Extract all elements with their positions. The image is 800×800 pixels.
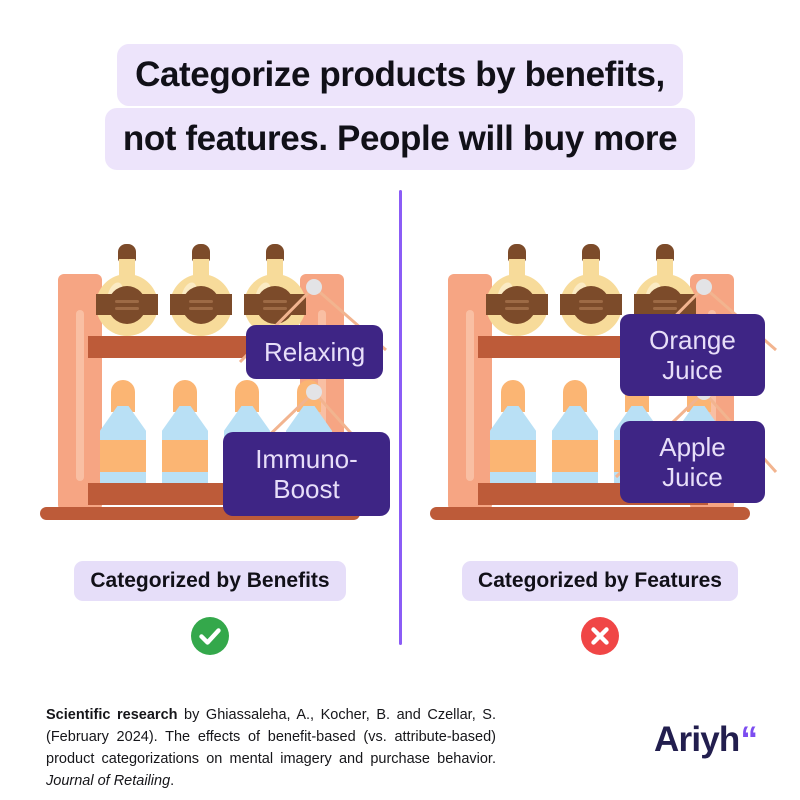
bottle-label-band xyxy=(170,294,232,315)
bottle-bottom-shelf xyxy=(162,380,208,483)
callout-label-apple-juice[interactable]: Apple Juice xyxy=(620,421,765,503)
bottle-label-band xyxy=(634,294,696,315)
callout-anchor-dot xyxy=(306,384,322,400)
bottle-label-stripe xyxy=(189,307,213,310)
bottle-label-stripe xyxy=(579,307,603,310)
shelf-post-highlight xyxy=(466,310,474,481)
citation-journal: Journal of Retailing xyxy=(46,773,170,789)
bottle-body xyxy=(490,440,536,474)
bottle-top-shelf xyxy=(96,244,158,336)
shelf-scene-benefits: Relaxing Immuno-Boost xyxy=(30,232,390,522)
bottle-label-stripe xyxy=(115,307,139,310)
check-circle-icon xyxy=(191,617,229,655)
bottle-foot-band xyxy=(162,472,208,483)
title-line-1-row: Categorize products by benefits, xyxy=(0,44,800,106)
bottle-body xyxy=(162,440,208,474)
ariyh-logo[interactable]: Ariyh “ xyxy=(654,722,758,758)
bottle-foot-band xyxy=(552,472,598,483)
bottle-label-stripe xyxy=(263,307,287,310)
title-line-2-row: not features. People will buy more xyxy=(0,108,800,170)
caption-pill-features: Categorized by Features xyxy=(462,561,738,601)
bottle-label-stripe xyxy=(189,300,213,303)
bottle-foot-band xyxy=(490,472,536,483)
bottle-label-stripe xyxy=(653,307,677,310)
bottle-top-shelf xyxy=(560,244,622,336)
bottle-label-stripe xyxy=(579,300,603,303)
bottle-top-shelf xyxy=(486,244,548,336)
citation-lead: Scientific research xyxy=(46,707,178,723)
bottle-label-band xyxy=(560,294,622,315)
bottle-label-stripe xyxy=(505,307,529,310)
x-circle-icon xyxy=(581,617,619,655)
callout-label-relaxing[interactable]: Relaxing xyxy=(246,325,383,379)
shelf-base xyxy=(430,507,750,520)
logo-wordmark: Ariyh xyxy=(654,722,739,758)
caption-pill-benefits: Categorized by Benefits xyxy=(74,561,345,601)
bottle-body xyxy=(552,440,598,474)
vertical-divider xyxy=(399,190,402,645)
shelf-post-highlight xyxy=(76,310,84,481)
shelf-scene-features: Orange Juice Apple Juice xyxy=(420,232,780,522)
title-line-2: not features. People will buy more xyxy=(105,108,695,170)
logo-quote-icon: “ xyxy=(741,722,759,758)
bottle-label-band xyxy=(244,294,306,315)
title-line-1: Categorize products by benefits, xyxy=(117,44,683,106)
bottle-bottom-shelf xyxy=(490,380,536,483)
bottle-label-stripe xyxy=(653,300,677,303)
bottle-body xyxy=(100,440,146,474)
callout-anchor-dot xyxy=(306,279,322,295)
bottle-label-band xyxy=(486,294,548,315)
bottle-label-stripe xyxy=(505,300,529,303)
citation-tail: . xyxy=(170,773,174,789)
callout-label-immuno-boost[interactable]: Immuno-Boost xyxy=(223,432,390,516)
bottle-bottom-shelf xyxy=(100,380,146,483)
bottle-label-stripe xyxy=(263,300,287,303)
callout-anchor-dot xyxy=(696,279,712,295)
bottle-top-shelf xyxy=(170,244,232,336)
bottle-top-shelf xyxy=(244,244,306,336)
page-title: Categorize products by benefits, not fea… xyxy=(0,44,800,170)
bottle-bottom-shelf xyxy=(552,380,598,483)
infographic-canvas: Categorize products by benefits, not fea… xyxy=(0,0,800,800)
bottle-label-band xyxy=(96,294,158,315)
citation-footer: Scientific research by Ghiassaleha, A., … xyxy=(46,704,496,792)
caption-benefits: Categorized by Benefits xyxy=(30,561,390,655)
caption-features: Categorized by Features xyxy=(420,561,780,655)
bottle-foot-band xyxy=(100,472,146,483)
bottle-label-stripe xyxy=(115,300,139,303)
callout-label-orange-juice[interactable]: Orange Juice xyxy=(620,314,765,396)
